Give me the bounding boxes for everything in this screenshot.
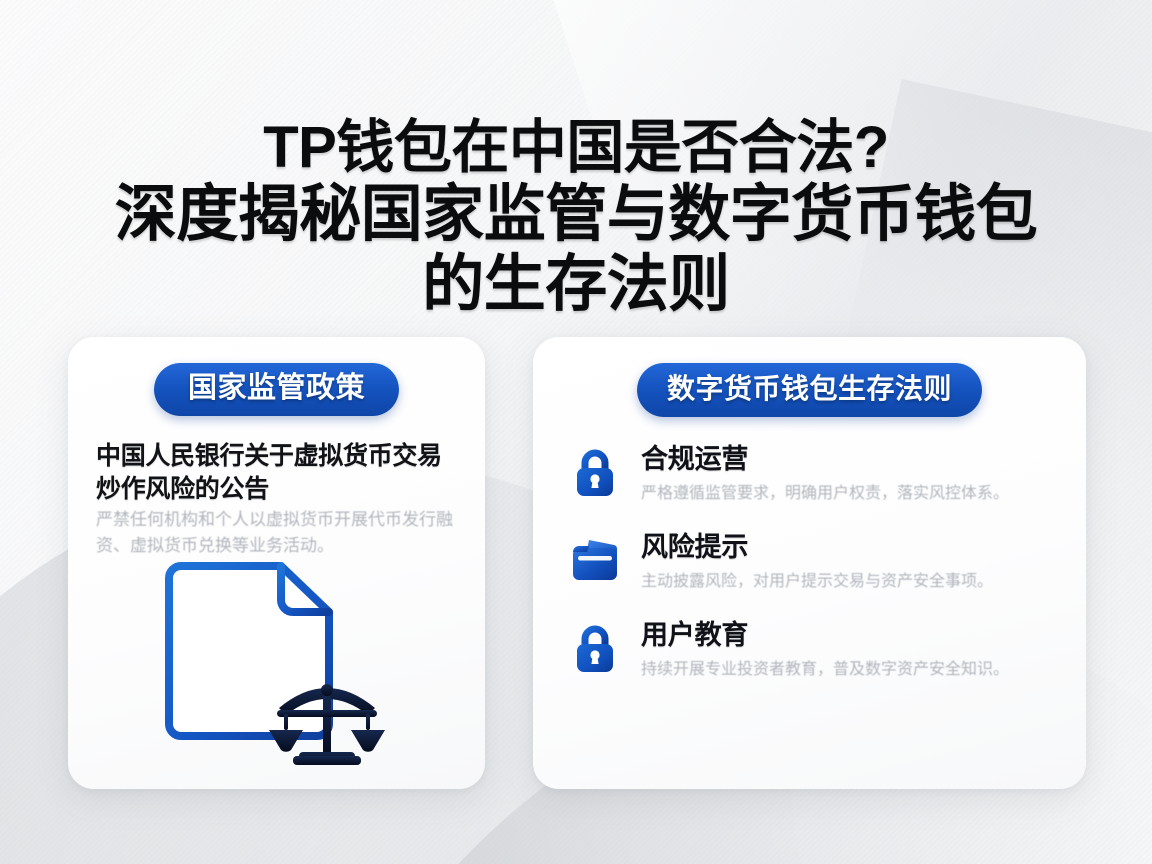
wallet-survival-rules-pill: 数字货币钱包生存法则 — [637, 363, 982, 417]
rule-title: 合规运营 — [641, 444, 1054, 474]
policy-announcement-desc: 严禁任何机构和个人以虚拟货币开展代币发行融资、虚拟货币兑换等业务活动。 — [96, 507, 457, 558]
left-card-header: 国家监管政策 — [90, 363, 463, 416]
regulation-policy-pill: 国家监管政策 — [154, 363, 399, 416]
wallet-icon — [569, 533, 621, 589]
page-title-line-1: TP钱包在中国是否合法? — [0, 116, 1152, 181]
document-and-scales-illustration — [147, 556, 407, 771]
rule-desc: 持续开展专业投资者教育，普及数字资产安全知识。 — [641, 659, 1054, 681]
page-title: TP钱包在中国是否合法? 深度揭秘国家监管与数字货币钱包 的生存法则 — [0, 116, 1152, 320]
wallet-survival-rules-card: 数字货币钱包生存法则 — [533, 337, 1086, 789]
page-title-line-2: 深度揭秘国家监管与数字货币钱包 — [0, 180, 1152, 249]
list-item: 风险提示 主动披露风险，对用户提示交易与资产安全事项。 — [569, 531, 1054, 593]
list-item: 合规运营 严格遵循监管要求，明确用户权责，落实风控体系。 — [569, 443, 1054, 505]
regulation-policy-card: 国家监管政策 中国人民银行关于虚拟货币交易炒作风险的公告 严禁任何机构和个人以虚… — [68, 337, 485, 789]
rule-desc: 主动披露风险，对用户提示交易与资产安全事项。 — [641, 571, 1054, 593]
rule-text: 用户教育 持续开展专业投资者教育，普及数字资产安全知识。 — [641, 619, 1054, 681]
rule-text: 合规运营 严格遵循监管要求，明确用户权责，落实风控体系。 — [641, 443, 1054, 505]
rule-desc: 严格遵循监管要求，明确用户权责，落实风控体系。 — [641, 483, 1054, 505]
card-row: 国家监管政策 中国人民银行关于虚拟货币交易炒作风险的公告 严禁任何机构和个人以虚… — [68, 337, 1086, 789]
rule-text: 风险提示 主动披露风险，对用户提示交易与资产安全事项。 — [641, 531, 1054, 593]
rule-title: 风险提示 — [641, 532, 1054, 562]
policy-illustration — [68, 556, 485, 771]
policy-body: 中国人民银行关于虚拟货币交易炒作风险的公告 严禁任何机构和个人以虚拟货币开展代币… — [90, 440, 463, 558]
lock-icon — [569, 621, 621, 677]
infographic-canvas: TP钱包在中国是否合法? 深度揭秘国家监管与数字货币钱包 的生存法则 国家监管政… — [0, 0, 1152, 864]
rule-list: 合规运营 严格遵循监管要求，明确用户权责，落实风控体系。 — [555, 443, 1064, 680]
page-title-line-3: 的生存法则 — [0, 250, 1152, 319]
right-card-header: 数字货币钱包生存法则 — [555, 363, 1064, 417]
rule-title: 用户教育 — [641, 620, 1054, 650]
list-item: 用户教育 持续开展专业投资者教育，普及数字资产安全知识。 — [569, 619, 1054, 681]
lock-icon — [569, 445, 621, 501]
policy-announcement-title: 中国人民银行关于虚拟货币交易炒作风险的公告 — [96, 440, 457, 505]
